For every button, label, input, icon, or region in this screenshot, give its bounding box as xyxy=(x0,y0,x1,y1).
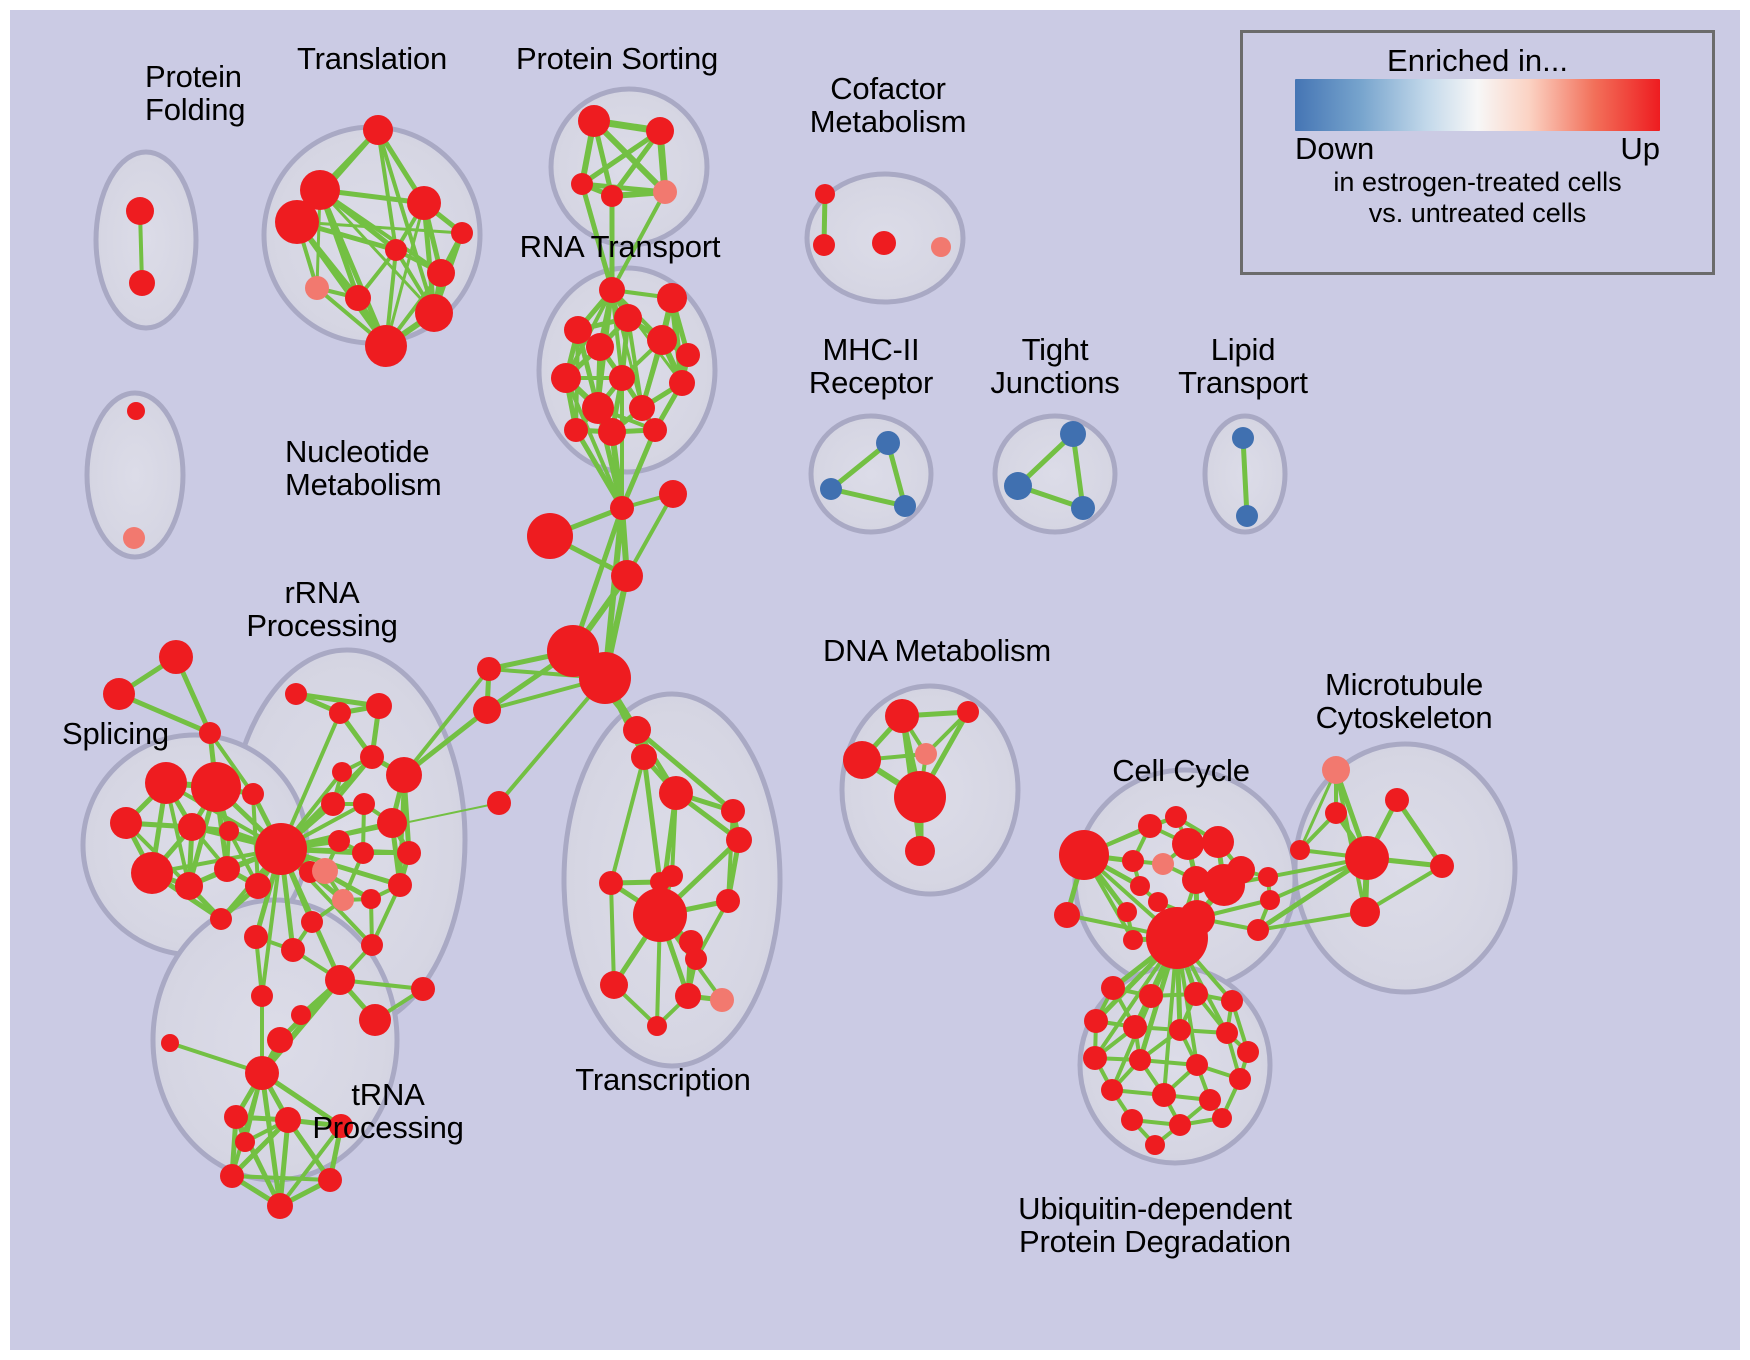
network-node[interactable] xyxy=(1152,1083,1176,1107)
network-node[interactable] xyxy=(676,343,700,367)
network-node[interactable] xyxy=(905,836,935,866)
network-node[interactable] xyxy=(219,821,239,841)
network-node[interactable] xyxy=(411,977,435,1001)
network-node[interactable] xyxy=(623,716,651,744)
network-node[interactable] xyxy=(1169,1114,1191,1136)
network-node[interactable] xyxy=(407,186,441,220)
network-node[interactable] xyxy=(564,316,592,344)
cluster-hull xyxy=(96,152,196,328)
network-node[interactable] xyxy=(332,889,354,911)
network-node[interactable] xyxy=(1146,907,1208,969)
network-node[interactable] xyxy=(633,888,687,942)
cluster-hull xyxy=(811,416,931,532)
network-node[interactable] xyxy=(653,180,677,204)
network-node[interactable] xyxy=(1084,1009,1108,1033)
network-node[interactable] xyxy=(1236,505,1258,527)
network-node[interactable] xyxy=(820,478,842,500)
cluster-label-mhc-ii-receptor: MHC-II Receptor xyxy=(809,333,933,400)
network-node[interactable] xyxy=(131,852,173,894)
network-node[interactable] xyxy=(366,693,392,719)
legend-panel: Enriched in... Down Up in estrogen-treat… xyxy=(1240,30,1715,275)
network-node[interactable] xyxy=(657,283,687,313)
network-edge xyxy=(232,1176,330,1180)
network-node[interactable] xyxy=(318,1168,342,1192)
network-node[interactable] xyxy=(1203,864,1245,906)
network-node[interactable] xyxy=(145,762,187,804)
network-node[interactable] xyxy=(325,965,355,995)
network-node[interactable] xyxy=(1123,930,1143,950)
network-node[interactable] xyxy=(199,722,221,744)
cluster-label-transcription: Transcription xyxy=(575,1063,750,1096)
cluster-label-ubiquitin-degradation: Ubiquitin-dependent Protein Degradation xyxy=(1018,1192,1292,1259)
network-node[interactable] xyxy=(721,799,745,823)
network-node[interactable] xyxy=(360,745,384,769)
cluster-label-protein-sorting: Protein Sorting xyxy=(516,42,718,75)
network-node[interactable] xyxy=(931,237,951,257)
network-node[interactable] xyxy=(1101,976,1125,1000)
figure-canvas: Protein FoldingTranslationProtein Sortin… xyxy=(0,0,1750,1360)
network-node[interactable] xyxy=(815,184,835,204)
network-node[interactable] xyxy=(178,813,206,841)
network-node[interactable] xyxy=(1229,1068,1251,1090)
network-node[interactable] xyxy=(647,325,677,355)
network-node[interactable] xyxy=(255,823,307,875)
network-node[interactable] xyxy=(1199,1089,1221,1111)
network-node[interactable] xyxy=(159,640,193,674)
network-node[interactable] xyxy=(600,971,628,999)
network-node[interactable] xyxy=(599,871,623,895)
network-node[interactable] xyxy=(487,791,511,815)
network-node[interactable] xyxy=(126,197,154,225)
cluster-label-nucleotide-metabolism: Nucleotide Metabolism xyxy=(285,435,442,502)
network-node[interactable] xyxy=(1221,990,1243,1012)
network-node[interactable] xyxy=(610,496,634,520)
cluster-label-rna-transport: RNA Transport xyxy=(520,230,721,263)
network-node[interactable] xyxy=(353,793,375,815)
cluster-label-rrna-processing: rRNA Processing xyxy=(246,576,397,643)
network-node[interactable] xyxy=(659,480,687,508)
network-node[interactable] xyxy=(1121,1109,1143,1131)
network-node[interactable] xyxy=(726,827,752,853)
network-node[interactable] xyxy=(329,702,351,724)
network-node[interactable] xyxy=(601,185,623,207)
network-node[interactable] xyxy=(291,1005,311,1025)
network-node[interactable] xyxy=(1350,897,1380,927)
network-node[interactable] xyxy=(1237,1041,1259,1063)
network-node[interactable] xyxy=(894,771,946,823)
network-node[interactable] xyxy=(386,757,422,793)
network-node[interactable] xyxy=(647,1016,667,1036)
network-node[interactable] xyxy=(220,1164,244,1188)
network-node[interactable] xyxy=(235,1132,255,1152)
network-node[interactable] xyxy=(1148,892,1168,912)
network-node[interactable] xyxy=(427,259,455,287)
network-node[interactable] xyxy=(1004,472,1032,500)
network-node[interactable] xyxy=(365,325,407,367)
network-node[interactable] xyxy=(267,1193,293,1219)
network-node[interactable] xyxy=(415,294,453,332)
cluster-label-cell-cycle: Cell Cycle xyxy=(1112,754,1250,787)
network-node[interactable] xyxy=(571,173,593,195)
network-node[interactable] xyxy=(477,657,501,681)
network-node[interactable] xyxy=(876,431,900,455)
network-node[interactable] xyxy=(1290,840,1310,860)
legend-high-label: Up xyxy=(1620,131,1660,167)
cluster-label-microtubule-cytoskeleton: Microtubule Cytoskeleton xyxy=(1316,668,1493,735)
network-node[interactable] xyxy=(397,841,421,865)
network-node[interactable] xyxy=(1232,427,1254,449)
cluster-label-splicing: Splicing xyxy=(62,717,169,750)
network-node[interactable] xyxy=(129,270,155,296)
network-node[interactable] xyxy=(1385,788,1409,812)
network-node[interactable] xyxy=(1212,1108,1232,1128)
network-node[interactable] xyxy=(579,652,631,704)
network-node[interactable] xyxy=(388,873,412,897)
network-node[interactable] xyxy=(659,776,693,810)
network-node[interactable] xyxy=(127,402,145,420)
network-node[interactable] xyxy=(123,527,145,549)
legend-color-gradient-bar xyxy=(1295,79,1660,131)
network-node[interactable] xyxy=(710,988,734,1012)
network-node[interactable] xyxy=(611,560,643,592)
network-node[interactable] xyxy=(957,701,979,723)
network-node[interactable] xyxy=(345,285,371,311)
network-node[interactable] xyxy=(1165,806,1187,828)
network-node[interactable] xyxy=(305,276,329,300)
network-node[interactable] xyxy=(1345,836,1389,880)
network-node[interactable] xyxy=(843,741,881,779)
network-node[interactable] xyxy=(716,889,740,913)
network-node[interactable] xyxy=(1325,802,1347,824)
network-node[interactable] xyxy=(885,699,919,733)
network-node[interactable] xyxy=(1122,850,1144,872)
network-node[interactable] xyxy=(685,948,707,970)
network-node[interactable] xyxy=(1059,830,1109,880)
network-node[interactable] xyxy=(275,200,319,244)
network-node[interactable] xyxy=(361,934,383,956)
network-node[interactable] xyxy=(614,304,642,332)
network-node[interactable] xyxy=(1130,876,1150,896)
network-node[interactable] xyxy=(301,911,323,933)
network-node[interactable] xyxy=(1071,496,1095,520)
network-node[interactable] xyxy=(210,908,232,930)
cluster-hull xyxy=(551,89,707,245)
cluster-label-translation: Translation xyxy=(297,42,447,75)
legend-subtitle: in estrogen-treated cells vs. untreated … xyxy=(1295,167,1660,229)
network-node[interactable] xyxy=(224,1105,248,1129)
network-node[interactable] xyxy=(1258,867,1278,887)
network-node[interactable] xyxy=(1430,854,1454,878)
legend-endpoint-labels: Down Up xyxy=(1295,131,1660,167)
network-node[interactable] xyxy=(1054,902,1080,928)
network-node[interactable] xyxy=(1138,814,1162,838)
network-node[interactable] xyxy=(281,938,305,962)
cluster-label-trna-processing: tRNA Processing xyxy=(312,1078,463,1145)
network-node[interactable] xyxy=(1322,756,1350,784)
network-node[interactable] xyxy=(245,1056,279,1090)
network-node[interactable] xyxy=(894,495,916,517)
network-node[interactable] xyxy=(110,807,142,839)
network-node[interactable] xyxy=(675,983,701,1009)
network-node[interactable] xyxy=(1247,919,1269,941)
network-node[interactable] xyxy=(245,873,271,899)
network-node[interactable] xyxy=(1186,1054,1208,1076)
network-node[interactable] xyxy=(631,744,657,770)
network-node[interactable] xyxy=(1060,421,1086,447)
network-node[interactable] xyxy=(385,239,407,261)
network-node[interactable] xyxy=(267,1027,293,1053)
network-node[interactable] xyxy=(1129,1049,1151,1071)
network-node[interactable] xyxy=(244,925,268,949)
network-node[interactable] xyxy=(1101,1079,1123,1101)
network-node[interactable] xyxy=(1172,828,1204,860)
cluster-label-tight-junctions: Tight Junctions xyxy=(990,333,1119,400)
network-node[interactable] xyxy=(214,856,240,882)
network-node[interactable] xyxy=(1139,984,1163,1008)
network-node[interactable] xyxy=(312,858,338,884)
network-node[interactable] xyxy=(242,783,264,805)
network-node[interactable] xyxy=(332,762,352,782)
network-node[interactable] xyxy=(646,117,674,145)
network-node[interactable] xyxy=(813,234,835,256)
network-node[interactable] xyxy=(103,678,135,710)
network-node[interactable] xyxy=(1145,1135,1165,1155)
network-node[interactable] xyxy=(451,222,473,244)
network-node[interactable] xyxy=(328,830,350,852)
network-node[interactable] xyxy=(175,872,203,900)
network-node[interactable] xyxy=(1152,853,1174,875)
network-node[interactable] xyxy=(1169,1019,1191,1041)
network-node[interactable] xyxy=(361,889,381,909)
network-node[interactable] xyxy=(1184,982,1208,1006)
network-node[interactable] xyxy=(599,277,625,303)
network-node[interactable] xyxy=(363,115,393,145)
network-node[interactable] xyxy=(473,696,501,724)
network-node[interactable] xyxy=(564,418,588,442)
network-node[interactable] xyxy=(629,395,655,421)
network-node[interactable] xyxy=(598,418,626,446)
network-node[interactable] xyxy=(161,1034,179,1052)
network-node[interactable] xyxy=(915,743,937,765)
network-node[interactable] xyxy=(1117,902,1137,922)
legend-title: Enriched in... xyxy=(1295,43,1660,79)
network-node[interactable] xyxy=(275,1107,301,1133)
network-node[interactable] xyxy=(1260,890,1280,910)
network-node[interactable] xyxy=(578,105,610,137)
network-node[interactable] xyxy=(352,842,374,864)
network-node[interactable] xyxy=(359,1004,391,1036)
network-node[interactable] xyxy=(321,792,345,816)
network-node[interactable] xyxy=(609,365,635,391)
cluster-label-protein-folding: Protein Folding xyxy=(145,60,245,127)
cluster-label-dna-metabolism: DNA Metabolism xyxy=(823,634,1051,667)
network-node[interactable] xyxy=(1083,1046,1107,1070)
network-node[interactable] xyxy=(669,370,695,396)
network-node[interactable] xyxy=(191,762,241,812)
network-node[interactable] xyxy=(1202,826,1234,858)
cluster-label-lipid-transport: Lipid Transport xyxy=(1178,333,1308,400)
network-node[interactable] xyxy=(586,333,614,361)
network-node[interactable] xyxy=(643,418,667,442)
network-node[interactable] xyxy=(872,231,896,255)
network-node[interactable] xyxy=(551,363,581,393)
network-node[interactable] xyxy=(251,985,273,1007)
network-node[interactable] xyxy=(377,808,407,838)
cluster-label-cofactor-metabolism: Cofactor Metabolism xyxy=(810,72,967,139)
legend-subtitle-line-1: in estrogen-treated cells xyxy=(1295,167,1660,198)
network-node[interactable] xyxy=(285,683,307,705)
network-node[interactable] xyxy=(1123,1015,1147,1039)
network-node[interactable] xyxy=(1216,1022,1238,1044)
legend-low-label: Down xyxy=(1295,131,1374,167)
network-node[interactable] xyxy=(527,513,573,559)
legend-subtitle-line-2: vs. untreated cells xyxy=(1295,198,1660,229)
